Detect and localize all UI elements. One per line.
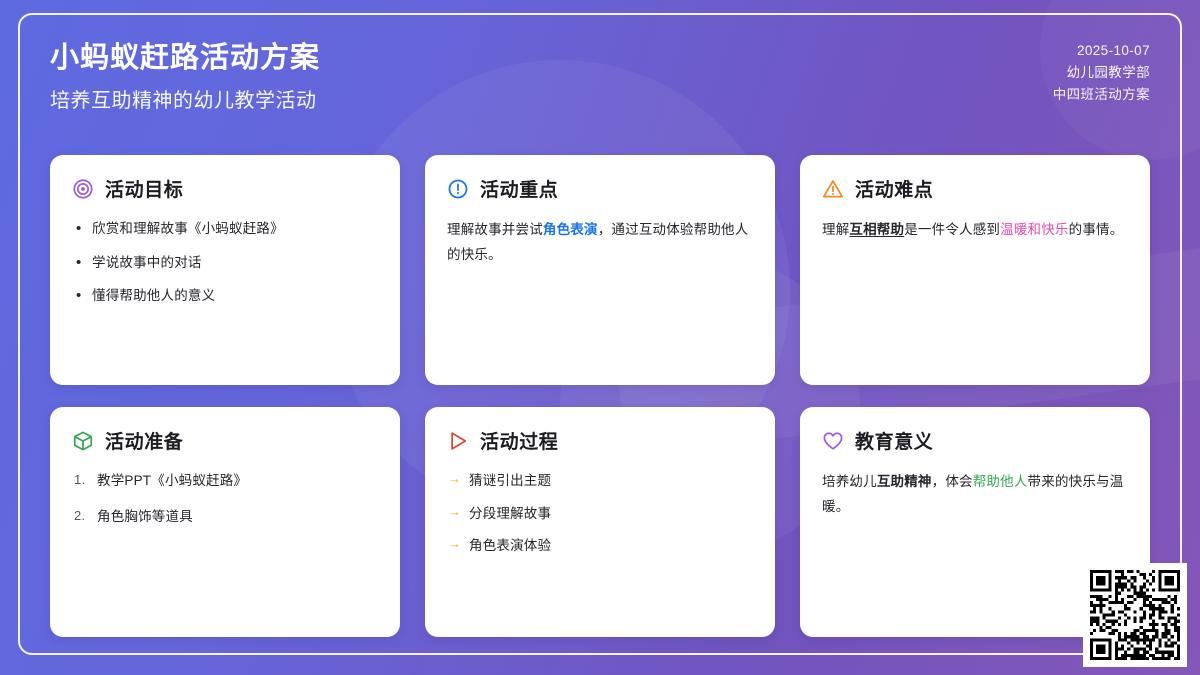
text-part: 是一件令人感到 <box>904 222 1000 237</box>
text-part: ，体会 <box>932 474 973 489</box>
text-part: 的事情。 <box>1069 222 1124 237</box>
header-meta: 2025-10-07 幼儿园教学部 中四班活动方案 <box>1053 40 1150 106</box>
list-item: 角色表演体验 <box>447 535 753 557</box>
list-item: 猜谜引出主题 <box>447 470 753 492</box>
card-focus[interactable]: 活动重点 理解故事并尝试角色表演，通过互动体验帮助他人的快乐。 <box>425 155 775 385</box>
meta-date: 2025-10-07 <box>1053 40 1150 62</box>
card-header: 活动重点 <box>447 175 753 202</box>
text-part: 理解故事并尝试 <box>447 222 543 237</box>
prepare-list: 教学PPT《小蚂蚁赶路》 角色胸饰等道具 <box>72 470 378 527</box>
page-title: 小蚂蚁赶路活动方案 <box>50 40 320 78</box>
target-icon <box>72 178 94 200</box>
focus-paragraph: 理解故事并尝试角色表演，通过互动体验帮助他人的快乐。 <box>447 218 753 268</box>
card-title: 活动难点 <box>855 175 933 202</box>
highlight-help-others: 帮助他人 <box>973 474 1028 489</box>
qr-code[interactable] <box>1083 563 1187 667</box>
card-process[interactable]: 活动过程 猜谜引出主题 分段理解故事 角色表演体验 <box>425 407 775 637</box>
qr-code-image <box>1090 570 1180 660</box>
header-title-group: 小蚂蚁赶路活动方案 培养互助精神的幼儿教学活动 <box>50 40 320 113</box>
play-triangle-icon <box>447 430 469 452</box>
meta-department: 幼儿园教学部 <box>1053 62 1150 84</box>
card-title: 活动准备 <box>105 427 183 454</box>
page-subtitle: 培养互助精神的幼儿教学活动 <box>50 84 320 113</box>
list-item: 教学PPT《小蚂蚁赶路》 <box>72 470 378 492</box>
difficulty-paragraph: 理解互相帮助是一件令人感到温暖和快乐的事情。 <box>822 218 1128 243</box>
slide-root: 小蚂蚁赶路活动方案 培养互助精神的幼儿教学活动 2025-10-07 幼儿园教学… <box>0 0 1200 675</box>
text-part: 理解 <box>822 222 849 237</box>
card-prepare[interactable]: 活动准备 教学PPT《小蚂蚁赶路》 角色胸饰等道具 <box>50 407 400 637</box>
meta-classinfo: 中四班活动方案 <box>1053 84 1150 106</box>
card-header: 活动难点 <box>822 175 1128 202</box>
card-title: 教育意义 <box>855 427 933 454</box>
text-part: 培养幼儿 <box>822 474 877 489</box>
list-item: 学说故事中的对话 <box>72 252 378 274</box>
meaning-paragraph: 培养幼儿互助精神，体会帮助他人带来的快乐与温暖。 <box>822 470 1128 520</box>
highlight-role-play: 角色表演 <box>543 222 598 237</box>
slide-header: 小蚂蚁赶路活动方案 培养互助精神的幼儿教学活动 2025-10-07 幼儿园教学… <box>50 40 1150 113</box>
process-list: 猜谜引出主题 分段理解故事 角色表演体验 <box>447 470 753 557</box>
card-header: 活动准备 <box>72 427 378 454</box>
warning-triangle-icon <box>822 178 844 200</box>
goals-list: 欣赏和理解故事《小蚂蚁赶路》 学说故事中的对话 懂得帮助他人的意义 <box>72 218 378 307</box>
card-title: 活动目标 <box>105 175 183 202</box>
card-title: 活动重点 <box>480 175 558 202</box>
emphasis-mutual-help: 互相帮助 <box>849 222 904 237</box>
card-difficulty[interactable]: 活动难点 理解互相帮助是一件令人感到温暖和快乐的事情。 <box>800 155 1150 385</box>
list-item: 欣赏和理解故事《小蚂蚁赶路》 <box>72 218 378 240</box>
list-item: 分段理解故事 <box>447 503 753 525</box>
highlight-warm-happy: 温暖和快乐 <box>1000 222 1069 237</box>
heart-icon <box>822 430 844 452</box>
package-box-icon <box>72 430 94 452</box>
emphasis-mutual-spirit: 互助精神 <box>877 474 932 489</box>
cards-grid: 活动目标 欣赏和理解故事《小蚂蚁赶路》 学说故事中的对话 懂得帮助他人的意义 活… <box>50 155 1150 637</box>
card-goals[interactable]: 活动目标 欣赏和理解故事《小蚂蚁赶路》 学说故事中的对话 懂得帮助他人的意义 <box>50 155 400 385</box>
list-item: 角色胸饰等道具 <box>72 506 378 528</box>
card-header: 教育意义 <box>822 427 1128 454</box>
card-header: 活动目标 <box>72 175 378 202</box>
list-item: 懂得帮助他人的意义 <box>72 285 378 307</box>
card-title: 活动过程 <box>480 427 558 454</box>
exclamation-circle-icon <box>447 178 469 200</box>
card-header: 活动过程 <box>447 427 753 454</box>
